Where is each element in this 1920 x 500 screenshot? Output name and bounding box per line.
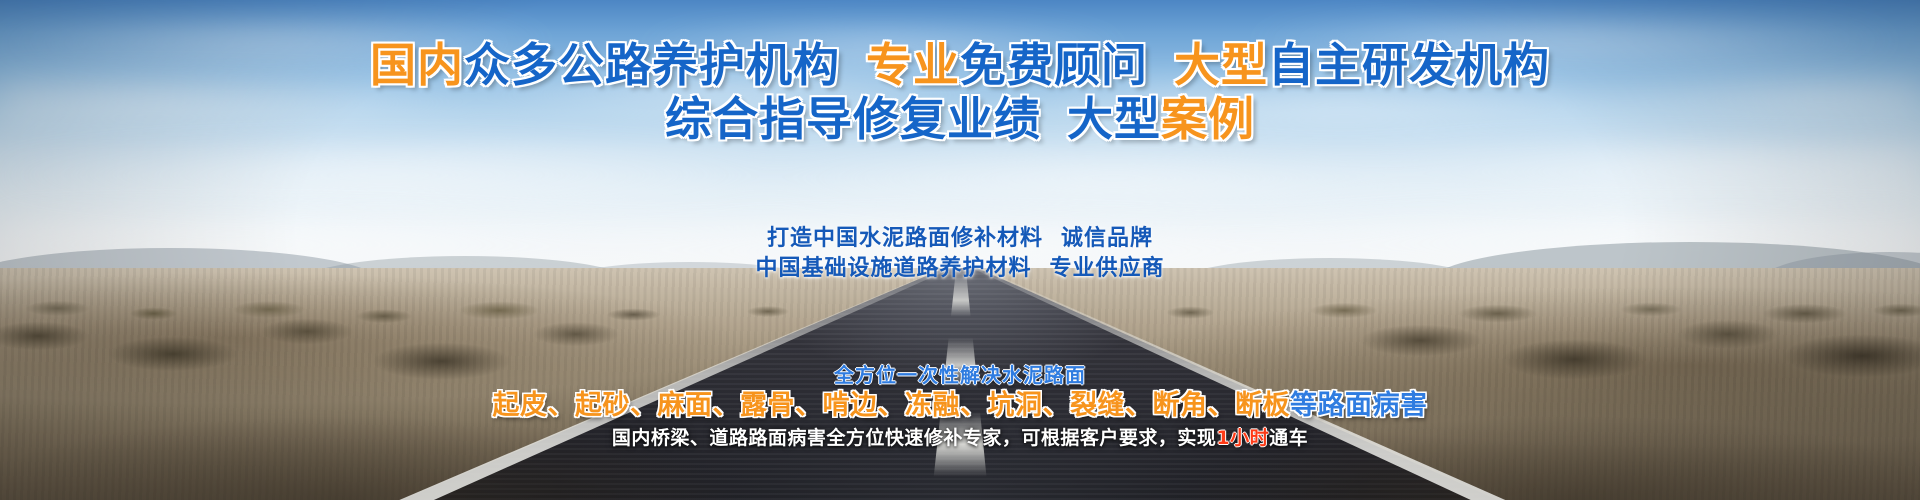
bottom-message-block: 全方位一次性解决水泥路面 起皮、起砂、麻面、露骨、啃边、冻融、坑洞、裂缝、断角、… bbox=[0, 362, 1920, 452]
promo-banner: 国内众多公路养护机构专业免费顾问大型自主研发机构 综合指导修复业绩大型案例 打造… bbox=[0, 0, 1920, 500]
headline-seg-anli: 案例 bbox=[1161, 92, 1255, 146]
headline-seg-zhongduo: 众多公路养护机构 bbox=[464, 38, 840, 92]
bottom-last-line: 国内桥梁、道路路面病害全方位快速修补专家，可根据客户要求，实现1小时通车 bbox=[0, 424, 1920, 452]
bottom-last-line-b: 通车 bbox=[1269, 427, 1308, 449]
subtitle-line-1: 打造中国水泥路面修补材料诚信品牌 bbox=[0, 224, 1920, 254]
headline-seg-guonei: 国内 bbox=[370, 38, 464, 92]
headline-block: 国内众多公路养护机构专业免费顾问大型自主研发机构 综合指导修复业绩大型案例 bbox=[0, 38, 1920, 146]
headline-line-2: 综合指导修复业绩大型案例 bbox=[0, 92, 1920, 146]
headline-seg-mianfei: 免费顾问 bbox=[960, 38, 1148, 92]
banner-content: 国内众多公路养护机构专业免费顾问大型自主研发机构 综合指导修复业绩大型案例 打造… bbox=[0, 0, 1920, 500]
headline-seg-daxing-2: 大型 bbox=[1067, 92, 1161, 146]
bottom-last-line-a: 国内桥梁、道路路面病害全方位快速修补专家，可根据客户要求，实现 bbox=[612, 427, 1217, 449]
headline-line-1: 国内众多公路养护机构专业免费顾问大型自主研发机构 bbox=[0, 38, 1920, 92]
headline-seg-zhuanye: 专业 bbox=[866, 38, 960, 92]
headline-seg-zonghe: 综合指导修复业绩 bbox=[665, 92, 1041, 146]
bottom-defects-list: 起皮、起砂、麻面、露骨、啃边、冻融、坑洞、裂缝、断角、断板 bbox=[493, 390, 1291, 421]
subtitle-block: 打造中国水泥路面修补材料诚信品牌 中国基础设施道路养护材料专业供应商 bbox=[0, 224, 1920, 284]
headline-seg-zizhu: 自主研发机构 bbox=[1268, 38, 1550, 92]
subtitle-line-1-a: 打造中国水泥路面修补材料 bbox=[767, 226, 1043, 251]
headline-seg-daxing: 大型 bbox=[1174, 38, 1268, 92]
bottom-defects-suffix: 等路面病害 bbox=[1290, 390, 1428, 421]
subtitle-line-2: 中国基础设施道路养护材料专业供应商 bbox=[0, 254, 1920, 284]
subtitle-line-2-b: 专业供应商 bbox=[1050, 256, 1165, 281]
bottom-top-line: 全方位一次性解决水泥路面 bbox=[0, 362, 1920, 388]
bottom-last-line-highlight: 1小时 bbox=[1216, 427, 1269, 449]
subtitle-line-2-a: 中国基础设施道路养护材料 bbox=[755, 256, 1031, 281]
subtitle-line-1-b: 诚信品牌 bbox=[1061, 226, 1153, 251]
bottom-defects-line: 起皮、起砂、麻面、露骨、啃边、冻融、坑洞、裂缝、断角、断板等路面病害 bbox=[0, 388, 1920, 424]
